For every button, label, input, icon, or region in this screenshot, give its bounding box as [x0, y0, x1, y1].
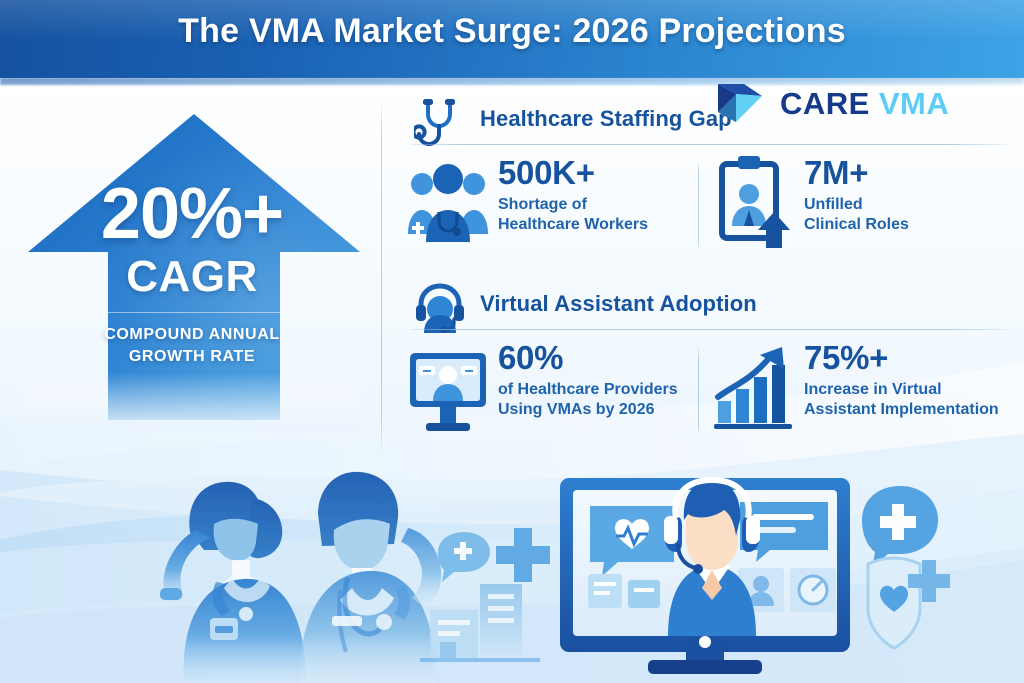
section-virtual-assistant-adoption: Virtual Assistant Adoption [400, 285, 1010, 331]
growth-bar-chart-icon [712, 339, 796, 435]
vertical-divider [381, 96, 382, 458]
headset-agent-icon [414, 281, 466, 333]
cagr-panel: 20%+ CAGR COMPOUND ANNUAL GROWTH RATE [22, 100, 362, 430]
stat-number: 60% [498, 341, 678, 374]
stat-description: of Healthcare Providers Using VMAs by 20… [498, 380, 678, 421]
monitor-telehealth-icon [406, 339, 490, 435]
cagr-subtitle: COMPOUND ANNUAL GROWTH RATE [22, 324, 362, 367]
infographic-canvas: The VMA Market Surge: 2026 Projections C… [0, 0, 1024, 683]
section-divider [410, 329, 1010, 330]
stat-desc-line1: Shortage of [498, 196, 587, 213]
section-header: Virtual Assistant Adoption [400, 285, 1010, 331]
clipboard-person-icon [712, 154, 796, 250]
stat-providers-using-vmas: 60% of Healthcare Providers Using VMAs b… [406, 337, 696, 445]
stat-desc-line2: Clinical Roles [804, 216, 909, 233]
stat-desc-line1: Unfilled [804, 196, 863, 213]
stat-text: 7M+ Unfilled Clinical Roles [804, 152, 909, 236]
cagr-text-block: 20%+ CAGR COMPOUND ANNUAL GROWTH RATE [22, 100, 362, 430]
section-divider [410, 144, 1010, 145]
logo-word-vma: VMA [879, 86, 949, 121]
stat-desc-line1: Increase in Virtual [804, 381, 942, 398]
stat-shortage-of-healthcare-workers: 500K+ Shortage of Healthcare Workers [406, 152, 696, 260]
brand-logo[interactable]: CAREVMA [714, 80, 1014, 126]
cagr-divider [94, 312, 290, 313]
cagr-subtitle-line1: COMPOUND ANNUAL [104, 326, 280, 343]
stat-number: 7M+ [804, 156, 909, 189]
stat-desc-line2: Using VMAs by 2026 [498, 401, 655, 418]
stat-text: 500K+ Shortage of Healthcare Workers [498, 152, 648, 236]
stats-container: Healthcare Staffing Gap [400, 100, 1010, 460]
stat-desc-line2: Healthcare Workers [498, 216, 648, 233]
logo-wordmark: CAREVMA [780, 88, 949, 119]
care-vma-logo-mark-icon [714, 82, 770, 124]
section-title: Virtual Assistant Adoption [480, 291, 757, 317]
cagr-label: CAGR [22, 255, 362, 299]
stat-desc-line2: Assistant Implementation [804, 401, 999, 418]
stat-description: Shortage of Healthcare Workers [498, 195, 648, 236]
cagr-subtitle-line2: GROWTH RATE [129, 348, 255, 365]
stat-number: 75%+ [804, 341, 994, 374]
logo-word-care: CARE [780, 86, 870, 121]
bottom-illustration [0, 432, 1024, 683]
stat-row: 60% of Healthcare Providers Using VMAs b… [400, 337, 1010, 445]
page-title: The VMA Market Surge: 2026 Projections [0, 12, 1024, 51]
stat-unfilled-clinical-roles: 7M+ Unfilled Clinical Roles [712, 152, 1010, 260]
stat-increase-in-implementation: 75%+ Increase in Virtual Assistant Imple… [712, 337, 1010, 445]
stat-row: 500K+ Shortage of Healthcare Workers [400, 152, 1010, 260]
virtual-medical-assistant-monitor [560, 478, 850, 674]
stat-text: 75%+ Increase in Virtual Assistant Imple… [804, 337, 994, 421]
stat-description: Unfilled Clinical Roles [804, 195, 909, 236]
cagr-value: 20%+ [22, 178, 362, 250]
stat-number: 500K+ [498, 156, 648, 189]
stat-description: Increase in Virtual Assistant Implementa… [804, 380, 994, 421]
stat-text: 60% of Healthcare Providers Using VMAs b… [498, 337, 678, 421]
stat-column-divider [698, 160, 699, 252]
stat-desc-line1: of Healthcare Providers [498, 381, 678, 398]
healthcare-workers-group-icon [406, 154, 490, 250]
header-banner: The VMA Market Surge: 2026 Projections [0, 0, 1024, 78]
section-title: Healthcare Staffing Gap [480, 106, 732, 132]
stat-column-divider [698, 345, 699, 437]
stethoscope-icon [414, 96, 466, 148]
